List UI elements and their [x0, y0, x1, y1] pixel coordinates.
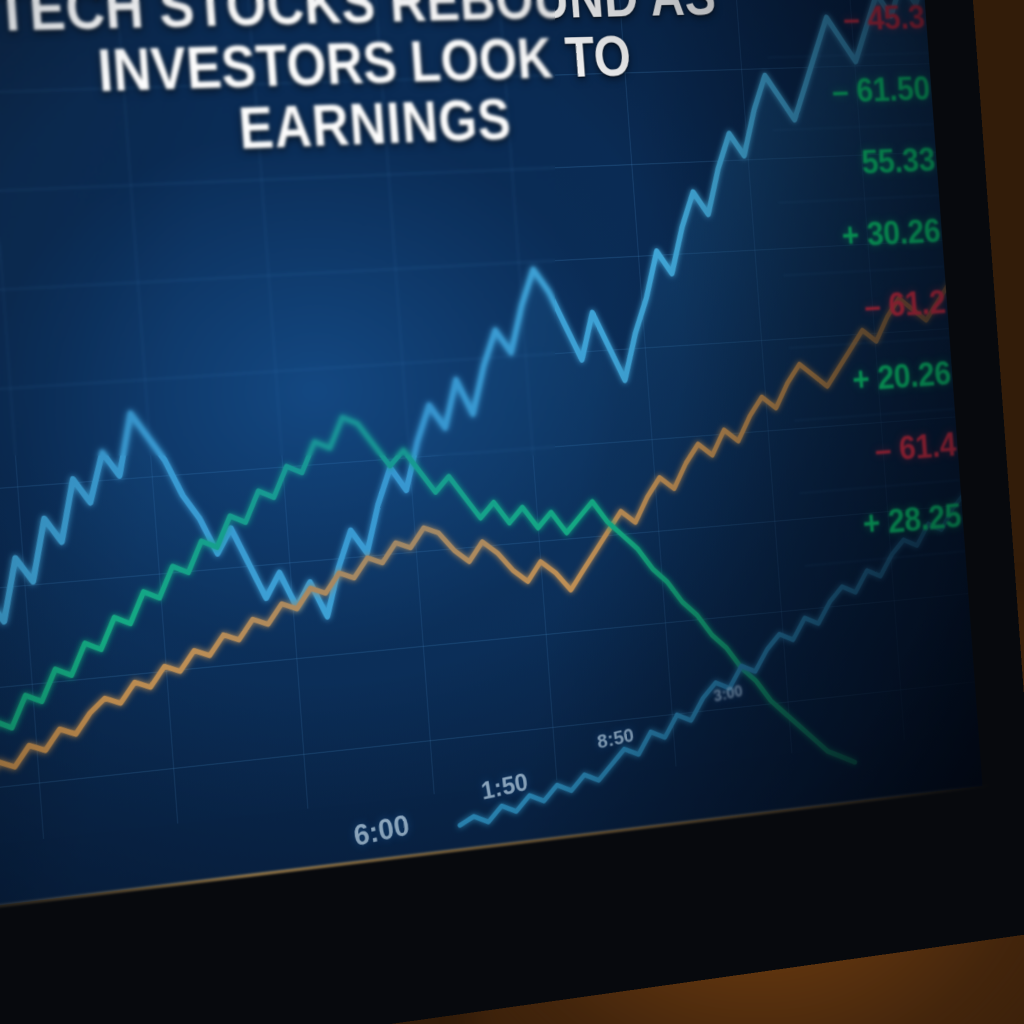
screen-vignette	[0, 0, 982, 916]
monitor: TECH STOCKS REBOUND AS INVESTORS LOOK TO…	[0, 0, 1024, 1024]
monitor-screen: TECH STOCKS REBOUND AS INVESTORS LOOK TO…	[0, 0, 982, 916]
screenshot-root: TECH STOCKS REBOUND AS INVESTORS LOOK TO…	[0, 0, 1024, 1024]
